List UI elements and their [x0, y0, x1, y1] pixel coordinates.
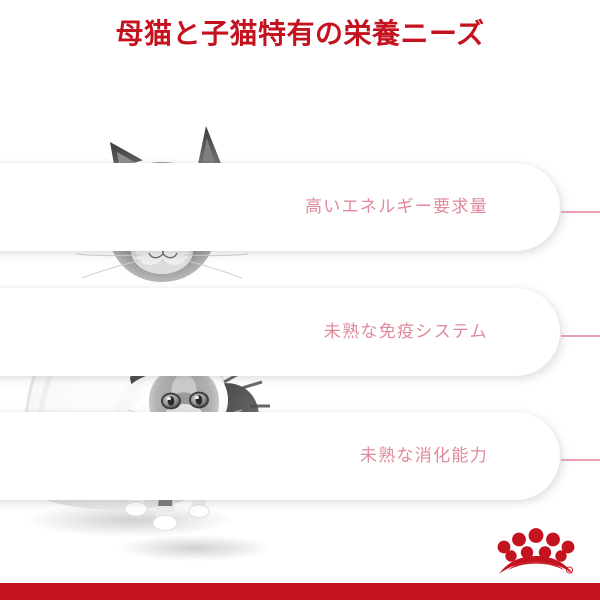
callout-card-3: 未熟な消化能力 — [0, 412, 560, 500]
infographic-root: 母猫と子猫特有の栄養ニーズ 高いエネルギー要求量 未熟な免疫システム 未熟な消化… — [0, 0, 600, 600]
callout-connector-line-2 — [561, 335, 600, 337]
royal-canin-crown-logo: R — [497, 527, 575, 577]
svg-text:R: R — [568, 568, 571, 573]
page-title: 母猫と子猫特有の栄養ニーズ — [0, 16, 600, 51]
callout-label-3: 未熟な消化能力 — [360, 412, 488, 500]
callout-card-2: 未熟な免疫システム — [0, 288, 560, 376]
callout-card-1: 高いエネルギー要求量 — [0, 163, 560, 251]
callout-connector-line-3 — [561, 459, 600, 461]
footer-red-bar — [0, 583, 600, 600]
callout-connector-line-1 — [561, 211, 600, 213]
registered-trademark-mark: R — [566, 567, 572, 573]
callout-label-1: 高いエネルギー要求量 — [305, 163, 488, 251]
callout-label-2: 未熟な免疫システム — [324, 288, 488, 376]
